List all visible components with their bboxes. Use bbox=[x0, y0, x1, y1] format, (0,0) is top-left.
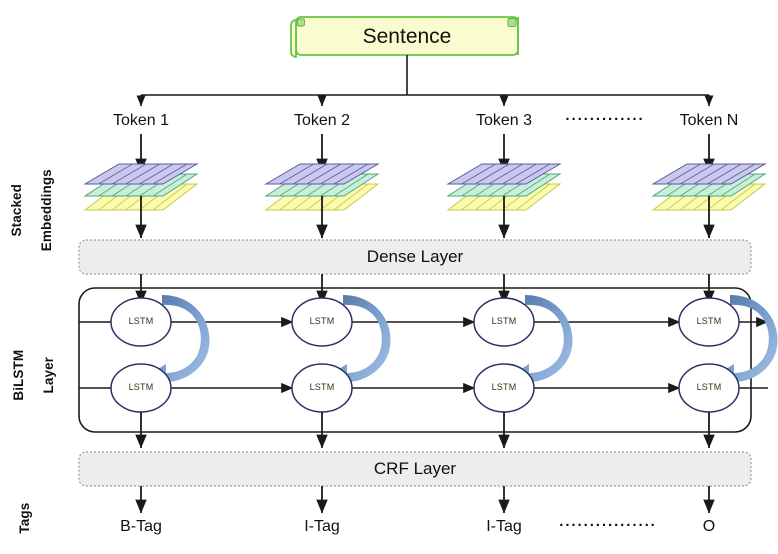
row-label-line2: Layer bbox=[41, 357, 56, 394]
lstm-cell-forward-3-label: LSTM bbox=[474, 316, 534, 326]
sentence-label: Sentence bbox=[296, 25, 518, 49]
lstm-cell-backward-2-label: LSTM bbox=[292, 382, 352, 392]
dense-to-bilstm-arrows bbox=[141, 274, 709, 304]
token-label-2: Token 2 bbox=[262, 112, 382, 130]
row-label-line1: Tags bbox=[17, 503, 32, 534]
lstm-cell-backward-3-label: LSTM bbox=[474, 382, 534, 392]
bilstm-container bbox=[79, 288, 751, 432]
token-to-embedding-arrows bbox=[141, 134, 709, 172]
diagram-canvas: Sentence Stacked Embeddings BiLSTM Layer… bbox=[0, 0, 778, 554]
row-label-line2: Embeddings bbox=[39, 169, 54, 251]
tag-label-1: B-Tag bbox=[81, 518, 201, 536]
row-label-stacked-embeddings: Stacked Embeddings bbox=[0, 160, 54, 260]
token-ellipsis: ············· bbox=[548, 111, 662, 128]
crf-to-tags-arrows bbox=[141, 486, 709, 513]
tag-label-2: I-Tag bbox=[262, 518, 382, 536]
embedding-to-dense-arrows bbox=[141, 196, 709, 238]
lstm-cell-backward-1-label: LSTM bbox=[111, 382, 171, 392]
dense-layer-label: Dense Layer bbox=[79, 247, 751, 267]
token-label-n: Token N bbox=[649, 112, 769, 130]
lstm-cell-forward-1-label: LSTM bbox=[111, 316, 171, 326]
lstm-cell-backward-4-label: LSTM bbox=[679, 382, 739, 392]
row-label-bilstm-layer: BiLSTM Layer bbox=[0, 325, 56, 425]
crf-layer-label: CRF Layer bbox=[79, 459, 751, 479]
token-label-1: Token 1 bbox=[81, 112, 201, 130]
row-label-tags: Tags bbox=[2, 483, 32, 553]
token-label-3: Token 3 bbox=[444, 112, 564, 130]
lstm-cell-forward-4-label: LSTM bbox=[679, 316, 739, 326]
row-label-line1: BiLSTM bbox=[11, 350, 26, 401]
tag-label-n: O bbox=[649, 518, 769, 536]
sentence-to-tokens-connector bbox=[141, 55, 709, 106]
row-label-line1: Stacked bbox=[9, 184, 24, 236]
lstm-cell-forward-2-label: LSTM bbox=[292, 316, 352, 326]
bilstm-to-crf-arrows bbox=[141, 412, 709, 448]
